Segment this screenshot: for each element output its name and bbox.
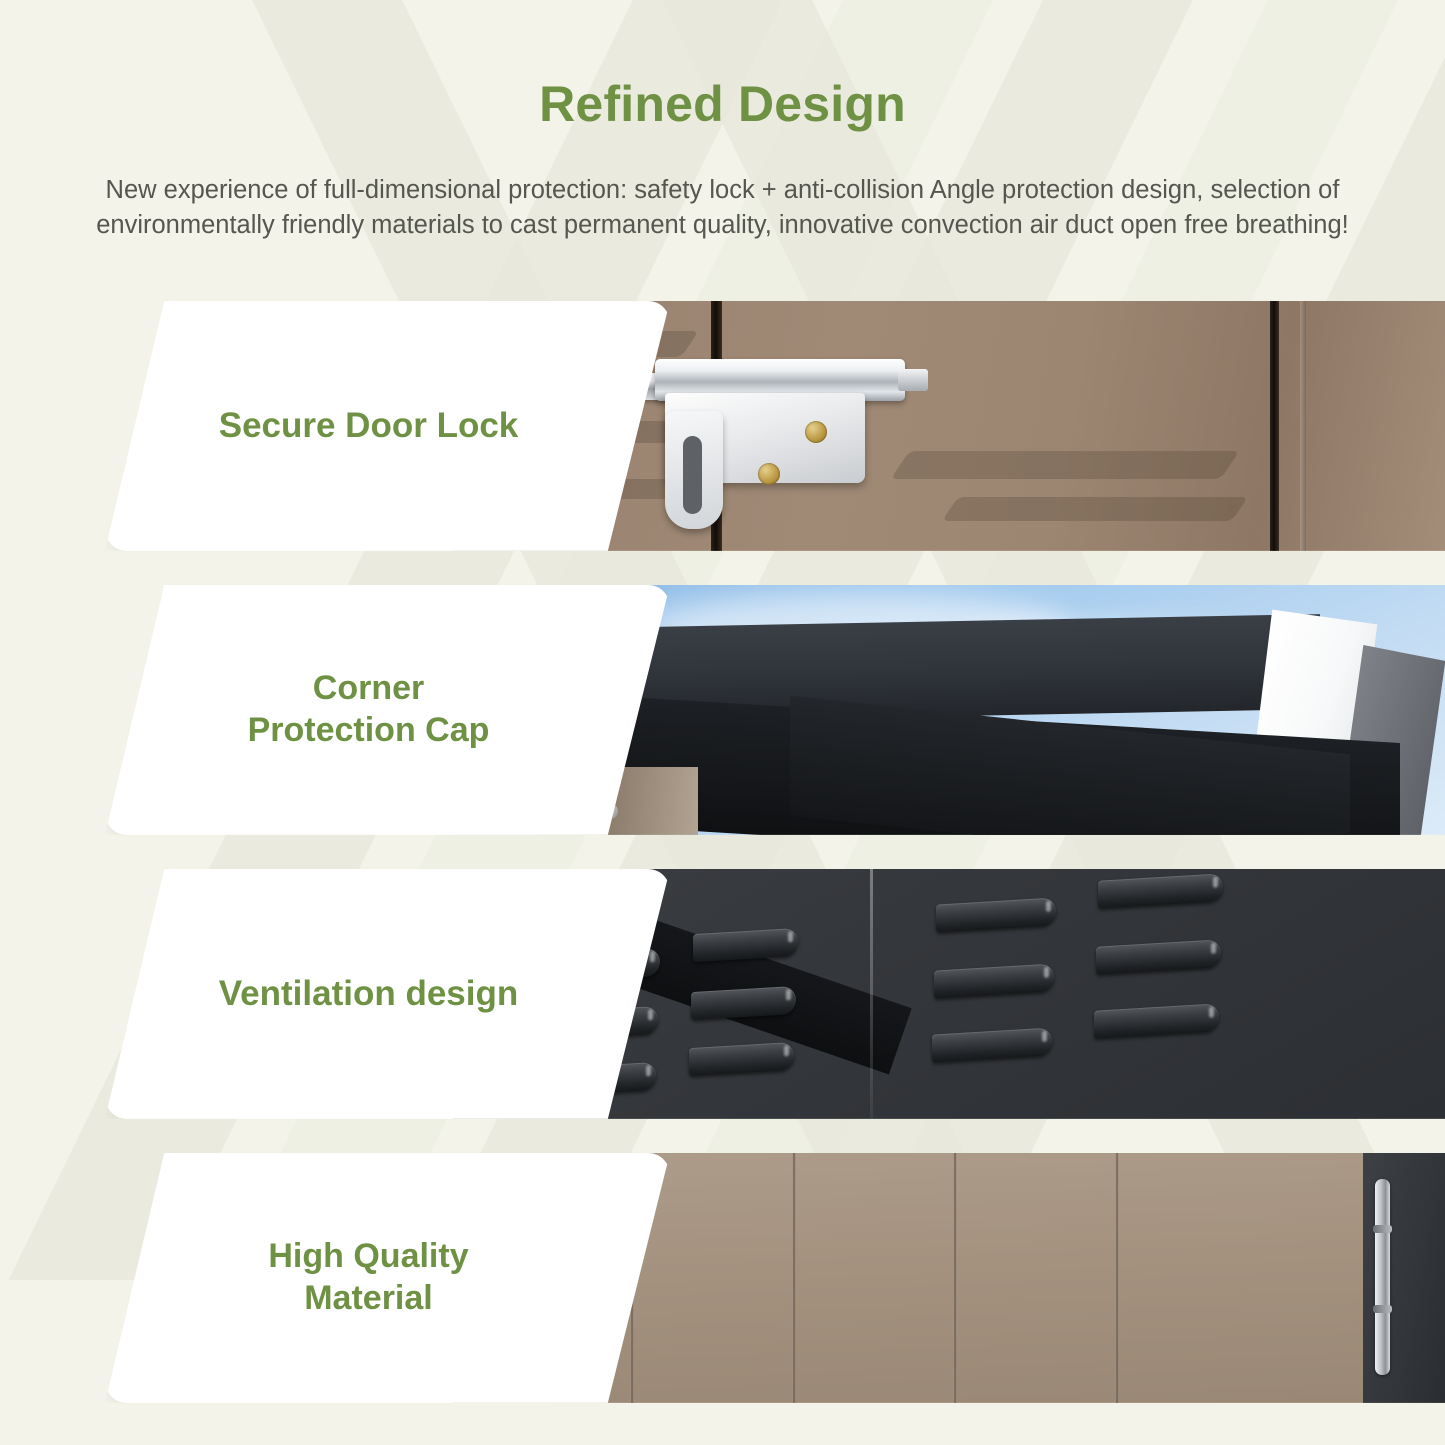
feature-label-panel[interactable]: High Quality Material <box>105 1153 670 1403</box>
feature-label-panel[interactable]: Secure Door Lock <box>105 301 670 551</box>
feature-label-panel[interactable]: Corner Protection Cap <box>105 585 670 835</box>
feature-list: Secure Door Lock <box>0 301 1445 1403</box>
feature-label-text: Corner Protection Cap <box>248 668 528 751</box>
feature-row-secure-door-lock: Secure Door Lock <box>0 301 1445 551</box>
feature-label-text: Ventilation design <box>219 973 556 1016</box>
feature-label-text: Secure Door Lock <box>219 405 557 448</box>
feature-label-panel[interactable]: Ventilation design <box>105 869 670 1119</box>
page-title: Refined Design <box>0 78 1445 131</box>
feature-row-high-quality-material: High Quality Material <box>0 1153 1445 1403</box>
feature-row-corner-protection-cap: Corner Protection Cap <box>0 585 1445 835</box>
page-subtitle: New experience of full-dimensional prote… <box>53 173 1393 243</box>
feature-label-text: High Quality Material <box>268 1236 506 1319</box>
header: Refined Design New experience of full-di… <box>0 0 1445 243</box>
infographic-page: Refined Design New experience of full-di… <box>0 0 1445 1445</box>
door-hinge <box>1375 1179 1390 1375</box>
feature-row-ventilation-design: Ventilation design <box>0 869 1445 1119</box>
